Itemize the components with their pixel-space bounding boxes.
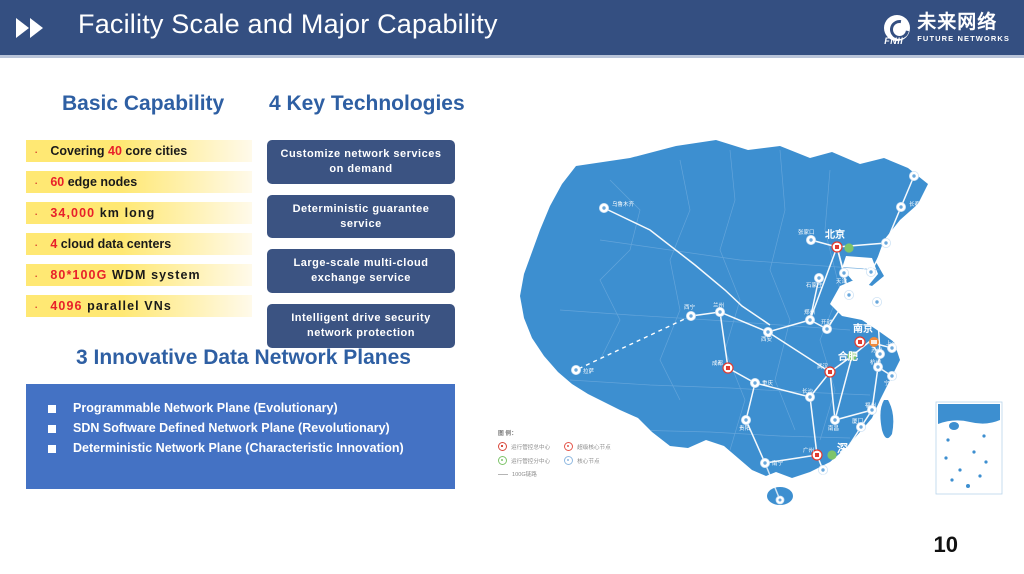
svg-text:苏州: 苏州	[871, 346, 882, 354]
orange-center-icon	[498, 442, 507, 451]
svg-text:北京: 北京	[825, 228, 845, 241]
bullet-icon: ·	[34, 145, 38, 158]
page-title: Facility Scale and Major Capability	[78, 9, 498, 40]
svg-text:兰州: 兰州	[713, 301, 724, 309]
legend-label: 超级核心节点	[577, 443, 611, 451]
svg-text:厦门: 厦门	[852, 417, 863, 425]
bullet-icon: ·	[34, 176, 38, 189]
svg-text:开封: 开封	[821, 318, 833, 326]
svg-text:长沙: 长沙	[802, 387, 814, 395]
bullet-icon: ·	[34, 238, 38, 251]
bullet-icon: ·	[34, 269, 38, 282]
plane-item: SDN Software Defined Network Plane (Revo…	[48, 421, 455, 435]
header-underline	[0, 55, 1024, 58]
logo-abbr: FNII	[884, 36, 903, 46]
capability-item: · Covering 40 core cities	[26, 140, 252, 162]
svg-text:贵阳: 贵阳	[739, 424, 750, 432]
capability-item: · 4096 parallel VNs	[26, 295, 252, 317]
svg-text:南宁: 南宁	[772, 459, 784, 467]
brand-logo: 未来网络 FUTURE NETWORKS FNII	[884, 8, 1010, 48]
logo-text: 未来网络 FUTURE NETWORKS	[917, 13, 1010, 43]
svg-text:西宁: 西宁	[684, 303, 696, 311]
svg-text:重庆: 重庆	[762, 379, 774, 387]
svg-text:哈尔滨: 哈尔滨	[907, 162, 924, 170]
legend-label: 运行管控分中心	[511, 457, 550, 465]
bullet-icon: ·	[34, 207, 38, 220]
svg-text:海口: 海口	[772, 506, 783, 514]
page-number: 10	[934, 532, 958, 558]
legend-item: 100G链路	[498, 470, 550, 478]
basic-capability-heading: Basic Capability	[62, 92, 224, 116]
legend-title: 图 例：	[498, 428, 658, 437]
svg-text:成都: 成都	[712, 359, 724, 367]
legend-column-left: 运行管控总中心 运行管控分中心 100G链路	[498, 442, 550, 478]
basic-capability-list: · Covering 40 core cities · 60 edge node…	[26, 140, 252, 326]
svg-text:广州: 广州	[803, 446, 814, 454]
technology-box[interactable]: Customize network services on demand	[267, 140, 455, 184]
legend-item: 运行管控总中心	[498, 442, 550, 451]
link-line-icon	[498, 474, 508, 475]
svg-text:上海: 上海	[886, 339, 898, 347]
bullet-icon: ·	[34, 300, 38, 313]
china-network-map: 乌鲁木齐 哈尔滨 长春 沈阳 大连 张家口 北京 天津 石家庄 济南 青岛 郑州…	[480, 80, 1024, 520]
plane-item: Programmable Network Plane (Evolutionary…	[48, 401, 455, 415]
svg-text:拉萨: 拉萨	[583, 367, 595, 375]
svg-text:武汉: 武汉	[817, 362, 829, 370]
slide: Facility Scale and Major Capability 未来网络…	[0, 0, 1024, 574]
svg-text:宁波: 宁波	[884, 379, 896, 387]
south-china-sea-inset	[936, 402, 1002, 494]
capability-label: 60 edge nodes	[50, 175, 137, 189]
svg-text:西安: 西安	[761, 335, 773, 343]
map-legend: 图 例： 运行管控总中心 运行管控分中心 100G链路	[498, 428, 658, 478]
capability-label: 4096 parallel VNs	[50, 299, 172, 313]
red-node-icon	[564, 442, 573, 451]
legend-item: 核心节点	[564, 456, 611, 465]
legend-item: 运行管控分中心	[498, 456, 550, 465]
square-bullet-icon	[48, 425, 56, 433]
capability-item: · 80*100G WDM system	[26, 264, 252, 286]
green-center-icon	[498, 456, 507, 465]
svg-text:福州: 福州	[865, 401, 876, 409]
fast-forward-icon	[16, 16, 50, 40]
square-bullet-icon	[48, 405, 56, 413]
plane-item: Deterministic Network Plane (Characteris…	[48, 441, 455, 455]
technology-box[interactable]: Large-scale multi-cloud exchange service	[267, 249, 455, 293]
capability-label: 34,000 km long	[50, 206, 155, 220]
logo-name-en: FUTURE NETWORKS	[917, 35, 1010, 43]
key-technologies-heading: 4 Key Technologies	[269, 92, 465, 116]
svg-text:深圳: 深圳	[837, 441, 859, 455]
svg-text:张家口: 张家口	[798, 228, 815, 236]
svg-text:合肥: 合肥	[837, 350, 858, 363]
operation-main-center-node	[869, 337, 879, 347]
network-planes-panel: Programmable Network Plane (Evolutionary…	[26, 384, 455, 489]
svg-text:郑州: 郑州	[804, 308, 815, 316]
legend-label: 核心节点	[577, 457, 599, 465]
capability-label: Covering 40 core cities	[50, 144, 187, 158]
capability-item: · 60 edge nodes	[26, 171, 252, 193]
svg-text:沈阳: 沈阳	[893, 235, 904, 243]
technology-box[interactable]: Deterministic guarantee service	[267, 195, 455, 239]
legend-item: 超级核心节点	[564, 442, 611, 451]
capability-label: 80*100G WDM system	[50, 268, 200, 282]
svg-text:南京: 南京	[853, 322, 873, 335]
svg-text:乌鲁木齐: 乌鲁木齐	[612, 200, 635, 208]
svg-text:杭州: 杭州	[870, 358, 881, 366]
plane-label: Deterministic Network Plane (Characteris…	[73, 441, 404, 455]
logo-name-cn: 未来网络	[917, 13, 1010, 32]
svg-text:珠海: 珠海	[816, 473, 828, 481]
plane-label: Programmable Network Plane (Evolutionary…	[73, 401, 338, 415]
svg-text:天津: 天津	[836, 278, 848, 285]
legend-label: 运行管控总中心	[511, 443, 550, 451]
plane-label: SDN Software Defined Network Plane (Revo…	[73, 421, 390, 435]
square-bullet-icon	[48, 445, 56, 453]
svg-text:南昌: 南昌	[828, 424, 839, 432]
capability-item: · 34,000 km long	[26, 202, 252, 224]
capability-label: 4 cloud data centers	[50, 237, 171, 251]
svg-text:青岛: 青岛	[870, 291, 882, 299]
taiwan-island	[880, 400, 893, 438]
svg-text:长春: 长春	[909, 200, 921, 208]
svg-text:济南: 济南	[842, 299, 854, 307]
blue-node-icon	[564, 456, 573, 465]
svg-text:石家庄: 石家庄	[806, 281, 823, 289]
legend-column-right: 超级核心节点 核心节点	[564, 442, 611, 478]
svg-text:大连: 大连	[863, 263, 875, 271]
key-technologies-list: Customize network services on demand Det…	[267, 140, 455, 359]
capability-item: · 4 cloud data centers	[26, 233, 252, 255]
legend-label: 100G链路	[512, 470, 537, 478]
technology-box[interactable]: Intelligent drive security network prote…	[267, 304, 455, 348]
